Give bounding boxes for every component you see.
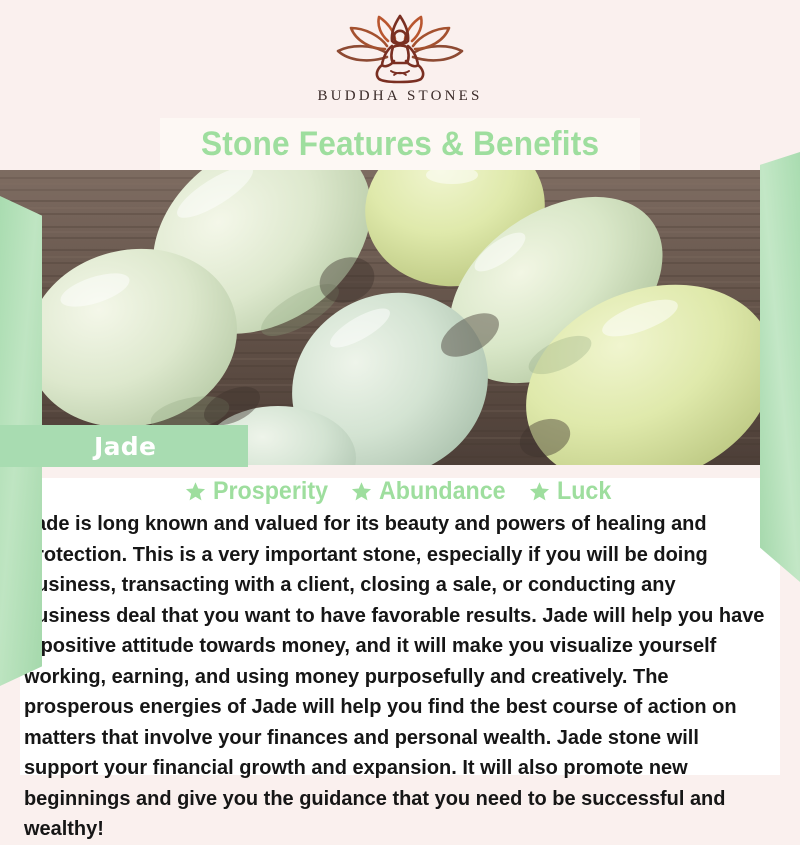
stone-name-bar: Jade	[0, 425, 248, 467]
benefit-label: Prosperity	[213, 477, 328, 506]
brand-header: BUDDHA STONES	[0, 0, 800, 118]
right-green-accent-bar	[760, 152, 800, 582]
infographic-page: BUDDHA STONES	[0, 0, 800, 800]
lotus-meditation-icon	[325, 13, 475, 85]
star-icon	[529, 481, 550, 502]
stone-photo-illustration	[0, 170, 800, 465]
star-icon	[351, 481, 372, 502]
benefit-item-abundance: Abundance	[351, 477, 515, 506]
stone-name-label: Jade	[94, 432, 156, 461]
star-icon	[185, 481, 206, 502]
benefit-label: Luck	[557, 477, 611, 506]
benefit-label: Abundance	[379, 477, 506, 506]
benefit-item-prosperity: Prosperity	[185, 477, 337, 506]
page-title: Stone Features & Benefits	[201, 125, 599, 164]
stone-photo	[0, 170, 800, 465]
benefit-item-luck: Luck	[529, 477, 615, 506]
content-panel: Prosperity Abundance Luck Jade is long k…	[20, 465, 780, 775]
brand-name: BUDDHA STONES	[317, 88, 482, 105]
title-banner: Stone Features & Benefits	[160, 118, 640, 170]
benefits-row: Prosperity Abundance Luck	[20, 477, 780, 506]
stone-description: Jade is long known and valued for its be…	[20, 509, 769, 845]
